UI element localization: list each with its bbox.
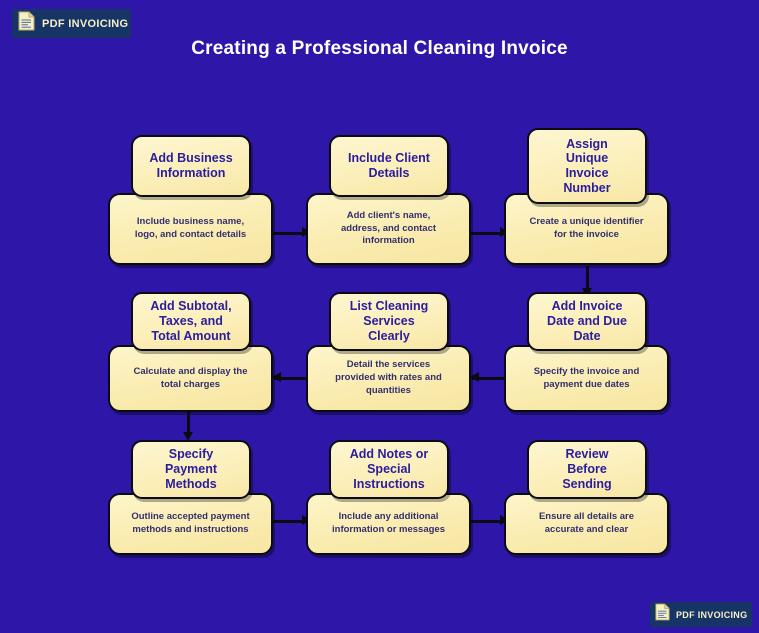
node-description: Include any additional information or me… [332,511,445,537]
node-description: Outline accepted payment methods and ins… [131,511,249,537]
node-description-box: Include any additional information or me… [306,493,471,555]
node-title-box[interactable]: Add Notes or Special Instructions [329,440,449,499]
node-description: Ensure all details are accurate and clea… [539,511,634,537]
node-title-box[interactable]: Include Client Details [329,135,449,197]
brand-label: PDF INVOICING [676,610,747,620]
node-description-box: Outline accepted payment methods and ins… [108,493,273,555]
node-title-box[interactable]: Review Before Sending [527,440,647,499]
node-title: Assign Unique Invoice Number [563,137,610,196]
node-title: Add Invoice Date and Due Date [547,299,627,343]
node-description: Detail the services provided with rates … [335,359,442,397]
node-description: Include business name, logo, and contact… [135,216,246,242]
node-description: Create a unique identifier for the invoi… [529,216,643,242]
node-title: Add Business Information [149,151,232,181]
arrow-left-icon [272,372,281,382]
page-title: Creating a Professional Cleaning Invoice [0,38,759,60]
node-title-box[interactable]: Add Business Information [131,135,251,197]
node-description: Calculate and display the total charges [133,366,247,392]
brand-badge-bottom-right[interactable]: PDF INVOICING [650,602,752,627]
node-title: Add Notes or Special Instructions [350,447,428,491]
node-title: Include Client Details [348,151,430,181]
node-title-box[interactable]: Add Invoice Date and Due Date [527,292,647,351]
node-title-box[interactable]: Add Subtotal, Taxes, and Total Amount [131,292,251,351]
node-title-box[interactable]: Specify Payment Methods [131,440,251,499]
node-title: Add Subtotal, Taxes, and Total Amount [150,299,231,343]
node-description-box: Include business name, logo, and contact… [108,193,273,265]
document-icon [18,11,35,36]
brand-badge-top-left[interactable]: PDF INVOICING [12,9,131,38]
node-description-box: Specify the invoice and payment due date… [504,345,669,412]
node-title: Specify Payment Methods [165,447,217,491]
node-description: Specify the invoice and payment due date… [534,366,640,392]
brand-label: PDF INVOICING [42,18,128,30]
node-description-box: Detail the services provided with rates … [306,345,471,412]
node-title-box[interactable]: Assign Unique Invoice Number [527,128,647,204]
document-icon [655,603,670,626]
node-description-box: Add client's name, address, and contact … [306,193,471,265]
flowchart-canvas: PDF INVOICING Creating a Professional Cl… [0,0,759,633]
node-title-box[interactable]: List Cleaning Services Clearly [329,292,449,351]
node-description: Add client's name, address, and contact … [341,210,436,248]
node-description-box: Calculate and display the total charges [108,345,273,412]
node-title: Review Before Sending [562,447,611,491]
node-title: List Cleaning Services Clearly [350,299,428,343]
node-description-box: Ensure all details are accurate and clea… [504,493,669,555]
arrow-left-icon [470,372,479,382]
